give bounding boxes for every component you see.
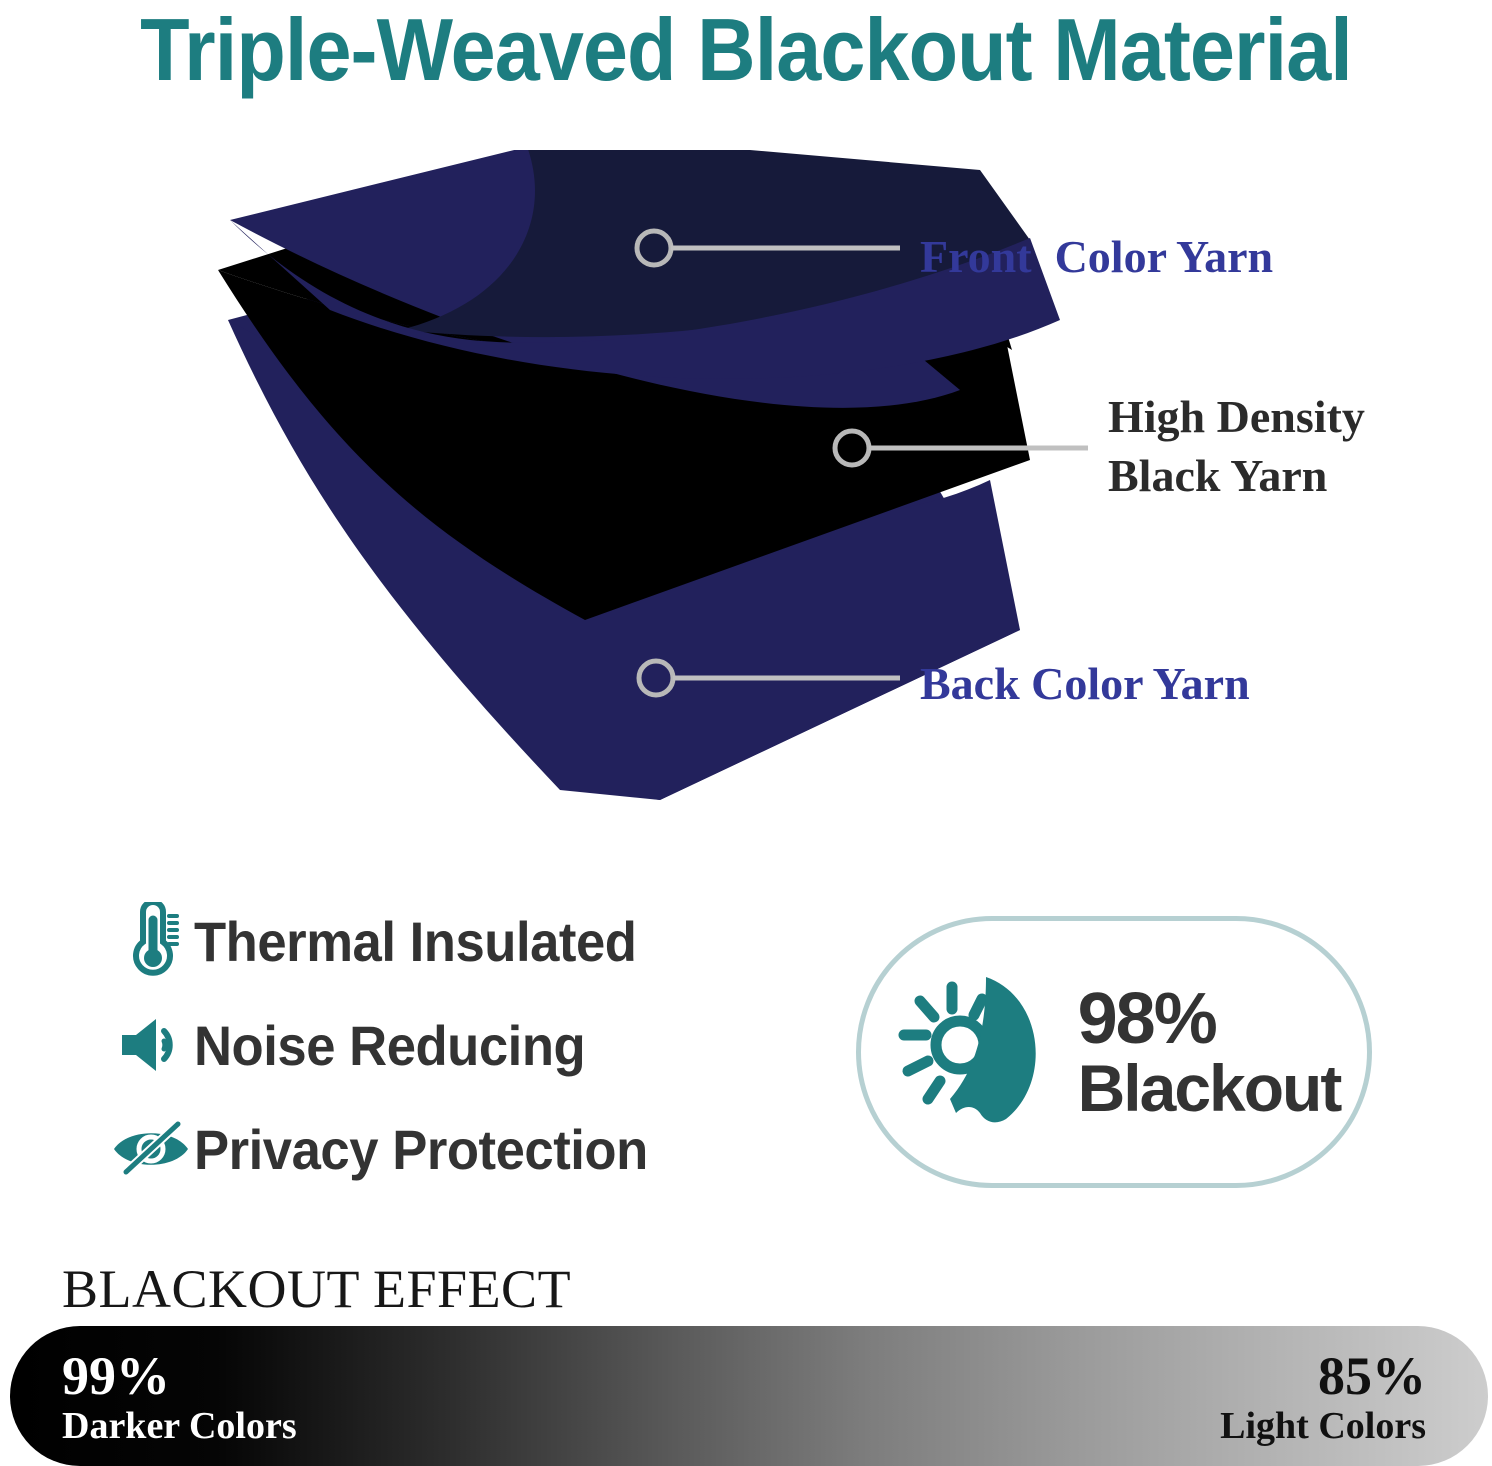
sun-blocked-by-curtain-icon — [888, 973, 1068, 1131]
callout-label-front: Front Color Yarn — [920, 228, 1273, 287]
blackout-badge-text: 98% Blackout — [1078, 983, 1341, 1121]
eye-off-icon — [108, 1120, 194, 1178]
blackout-effect-left-stat: 99% Darker Colors — [62, 1348, 297, 1447]
callout-label-black: High Density Black Yarn — [1108, 388, 1438, 506]
blackout-badge: 98% Blackout — [856, 916, 1372, 1188]
feature-list: Thermal Insulated Noise Reducing Privacy… — [108, 895, 808, 1207]
blackout-effect-gradient-bar: 99% Darker Colors 85% Light Colors — [10, 1326, 1488, 1466]
feature-item-thermal-insulated: Thermal Insulated — [108, 895, 808, 987]
feature-label-noise-reducing: Noise Reducing — [194, 1013, 585, 1078]
callout-label-back: Back Color Yarn — [920, 655, 1250, 714]
blackout-effect-heading: BLACKOUT EFFECT — [62, 1258, 571, 1320]
darker-colors-label: Darker Colors — [62, 1407, 297, 1447]
callout-label-black-line2: Black Yarn — [1108, 450, 1327, 501]
page-title: Triple-Weaved Blackout Material — [60, 0, 1433, 100]
feature-label-privacy-protection: Privacy Protection — [194, 1117, 648, 1182]
blackout-percent: 98% — [1078, 983, 1341, 1055]
feature-item-privacy-protection: Privacy Protection — [108, 1103, 808, 1195]
darker-colors-percent: 99% — [62, 1348, 297, 1405]
light-colors-percent: 85% — [1220, 1348, 1426, 1405]
light-colors-label: Light Colors — [1220, 1407, 1426, 1447]
thermometer-icon — [108, 902, 194, 980]
blackout-word: Blackout — [1078, 1055, 1341, 1121]
feature-label-thermal-insulated: Thermal Insulated — [194, 909, 636, 974]
callout-label-black-line1: High Density — [1108, 391, 1365, 442]
blackout-effect-right-stat: 85% Light Colors — [1220, 1348, 1426, 1447]
speaker-icon — [108, 1013, 194, 1077]
feature-item-noise-reducing: Noise Reducing — [108, 999, 808, 1091]
